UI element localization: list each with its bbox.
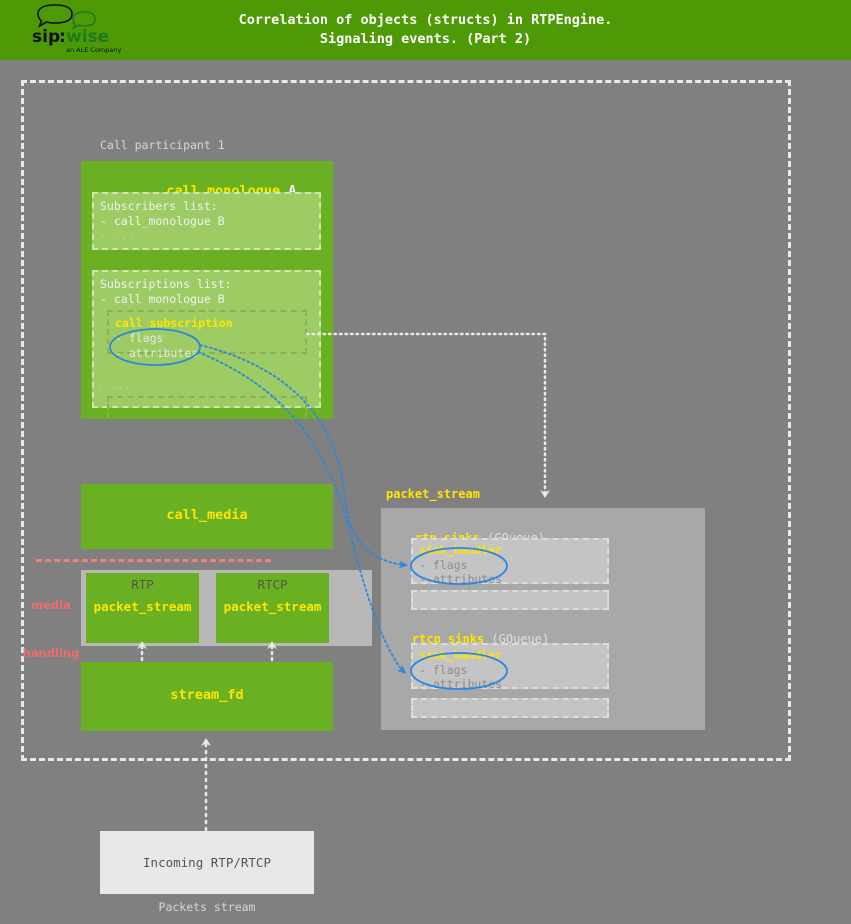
subscribers-list-header: Subscribers list:: [100, 199, 313, 214]
call-participant-label: Call participant 1: [100, 138, 225, 152]
subscribers-list-box: Subscribers list: - call_monologue B - .…: [92, 192, 321, 250]
page-title: Correlation of objects (structs) in RTPE…: [239, 11, 613, 49]
rtcp-sink-handler-box: sink_handler - flags - attributes: [411, 643, 609, 689]
rtcp-struct-label: packet_stream: [216, 599, 329, 614]
subscriptions-list-header: Subscriptions list:: [100, 277, 313, 292]
call-subscription-title: call_subscription: [115, 316, 299, 331]
rtcp-sink-handler-title: sink_handler: [419, 648, 601, 663]
packet-stream-panel-label: packet_stream: [386, 487, 480, 501]
diagram-root: sip : wise an ALE Company Correlation of…: [0, 0, 851, 924]
page-header: sip : wise an ALE Company Correlation of…: [0, 0, 851, 60]
subscriptions-list-item: - call monologue B: [100, 292, 313, 307]
rtp-sink-handler-title: sink_handler: [419, 543, 601, 558]
call-media-title: call_media: [81, 507, 333, 523]
media-handling-divider: [36, 559, 271, 562]
call-subscription-field-attributes: - attributes: [115, 346, 299, 361]
rtp-proto-label: RTP: [86, 577, 199, 592]
svg-text:sip: sip: [32, 27, 60, 47]
page-title-line-1: Correlation of objects (structs) in RTPE…: [239, 11, 613, 30]
rtp-sink-handler-box: sink_handler - flags - attributes: [411, 538, 609, 584]
media-handling-label: media handling: [21, 565, 81, 693]
rtcp-packet-stream-box: RTCP packet_stream: [216, 573, 329, 643]
rtp-packet-stream-box: RTP packet_stream: [86, 573, 199, 643]
logo-tagline: an ALE Company: [66, 46, 121, 54]
rtp-sink-handler-field-attributes: - attributes: [419, 572, 601, 587]
call-subscription-box-partial: [107, 396, 307, 418]
subscriptions-more-label: - ...: [97, 378, 132, 392]
rtp-sink-handler-empty-slot: [411, 590, 609, 610]
stream-fd-box: stream_fd: [81, 662, 333, 731]
incoming-packets-label: Incoming RTP/RTCP: [143, 855, 271, 870]
subscribers-list-item-0: - call_monologue B: [100, 214, 313, 229]
rtcp-sink-handler-field-flags: - flags: [419, 663, 601, 678]
media-handling-label-line-2: handling: [21, 645, 81, 661]
rtp-struct-label: packet_stream: [86, 599, 199, 614]
media-handling-label-line-1: media: [21, 597, 81, 613]
incoming-packets-box: Incoming RTP/RTCP: [100, 831, 314, 894]
sipwise-logo: sip : wise an ALE Company: [24, 2, 134, 58]
svg-text::: :: [59, 27, 66, 47]
rtp-sink-handler-field-flags: - flags: [419, 558, 601, 573]
call-media-box: call_media: [81, 484, 333, 549]
call-subscription-box: call_subscription - flags - attributes: [107, 310, 307, 354]
rtcp-sink-handler-field-attributes: - attributes: [419, 677, 601, 692]
stream-fd-title: stream_fd: [81, 687, 333, 703]
rtcp-proto-label: RTCP: [216, 577, 329, 592]
rtcp-sink-handler-empty-slot: [411, 698, 609, 718]
subscribers-list-item-1: - ...: [100, 228, 313, 243]
call-subscription-field-flags: - flags: [115, 331, 299, 346]
page-title-line-2: Signaling events. (Part 2): [239, 30, 613, 49]
packets-stream-caption: Packets stream: [100, 900, 314, 914]
svg-text:wise: wise: [66, 27, 109, 47]
